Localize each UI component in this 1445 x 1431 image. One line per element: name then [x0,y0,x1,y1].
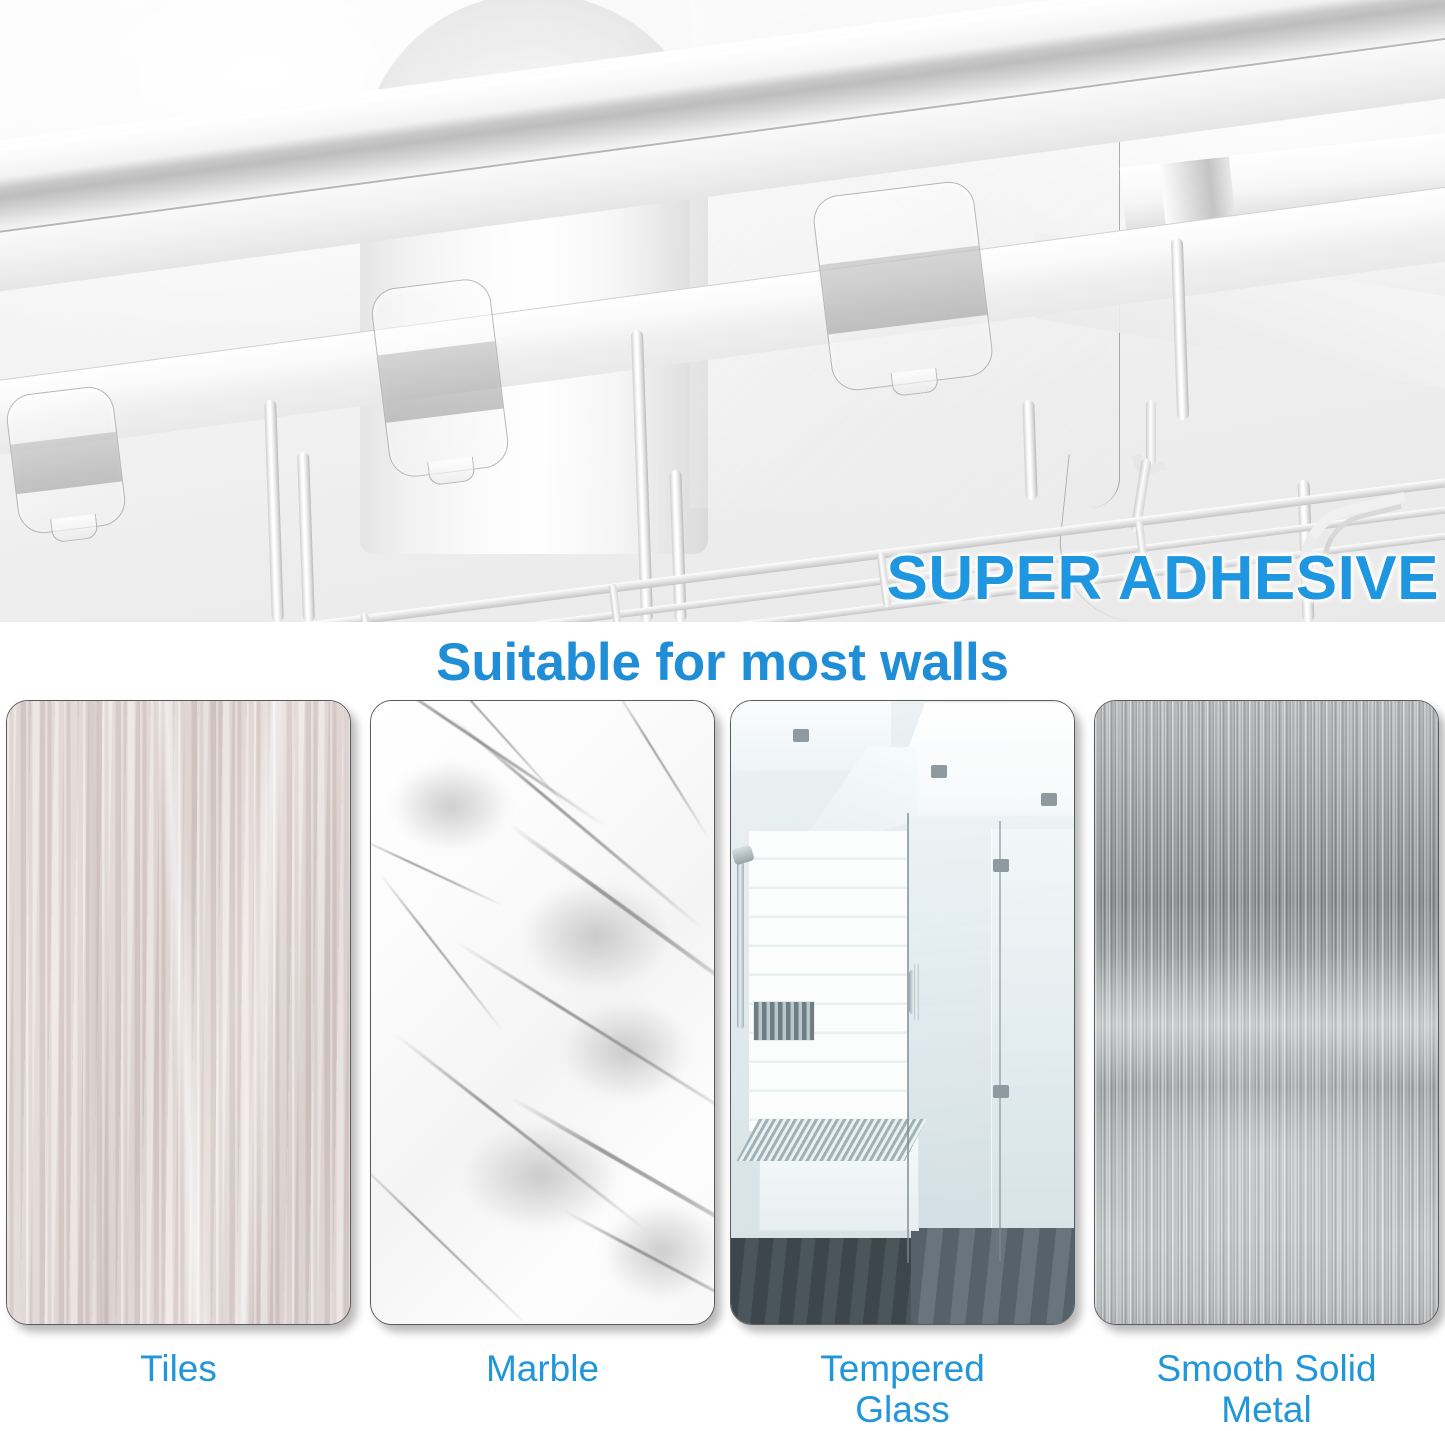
wall-material-swatch-row: Tiles Marble Tempered Glass Smooth Solid… [0,700,1445,1416]
caption-smooth-solid-metal: Smooth Solid Metal [1094,1348,1439,1431]
adhesive-pad-center [369,276,511,479]
caption-line: Tiles [6,1348,351,1389]
adhesive-pad-right [811,179,996,393]
product-hero-image: SUPER ADHESIVE [0,0,1445,622]
adhesive-pad-strip [11,432,122,494]
caption-tempered-glass: Tempered Glass [730,1348,1075,1431]
caption-line: Tempered [730,1348,1075,1389]
swatch-marble[interactable] [370,700,715,1325]
tiles-texture [7,701,350,1324]
caption-line: Metal [1094,1389,1439,1430]
adhesive-pad-left [4,384,128,536]
caption-marble: Marble [370,1348,715,1389]
swatch-tempered-glass[interactable] [730,700,1075,1325]
adhesive-pad-strip [820,245,987,334]
tempered-glass-photo [731,701,1074,1324]
caption-tiles: Tiles [6,1348,351,1389]
brushed-metal-texture [1095,701,1438,1324]
adhesive-pad-strip [378,341,503,423]
hero-headline: SUPER ADHESIVE [887,543,1440,614]
swatch-tiles[interactable] [6,700,351,1325]
caption-line: Marble [370,1348,715,1389]
section-title: Suitable for most walls [0,632,1445,693]
caption-line: Smooth Solid [1094,1348,1439,1389]
marble-texture [371,701,714,1324]
caption-line: Glass [730,1389,1075,1430]
suitable-walls-section: Suitable for most walls [0,622,1445,1416]
swatch-smooth-solid-metal[interactable] [1094,700,1439,1325]
